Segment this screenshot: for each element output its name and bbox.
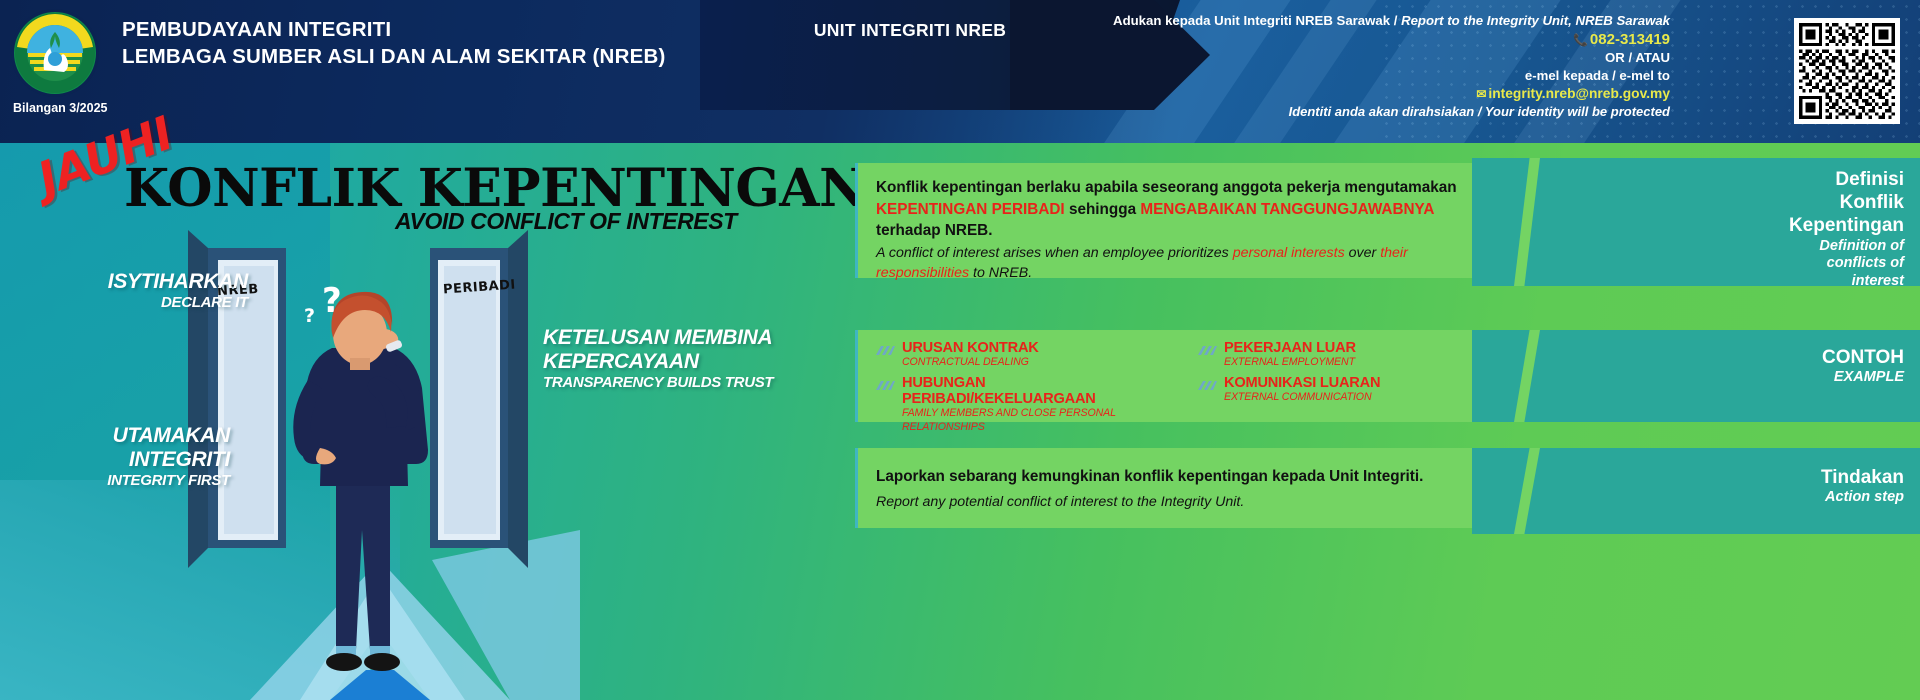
example-ms: URUSAN KONTRAK [902,340,1176,356]
declare-en: DECLARE IT [88,294,248,311]
poster-header: PEMBUDAYAAN INTEGRITI LEMBAGA SUMBER ASL… [0,0,1920,143]
example-en: EXTERNAL COMMUNICATION [1224,391,1498,404]
label-declare-it: ISYTIHARKAN DECLARE IT [88,270,248,311]
trust-ms-line2: KEPERCAYAAN [543,350,873,374]
example-en: EXTERNAL EMPLOYMENT [1224,356,1498,369]
report-ms: Adukan kepada Unit Integriti NREB Sarawa… [1113,13,1390,28]
report-separator: / [1394,13,1398,28]
declare-ms: ISYTIHARKAN [88,270,248,294]
example-en: FAMILY MEMBERS AND CLOSE PERSONAL RELATI… [902,407,1176,433]
tab2-ms: CONTOH [1472,346,1904,369]
definition-ms: Konflik kepentingan berlaku apabila sese… [876,177,1501,242]
issue-number: Bilangan 3/2025 [13,101,108,115]
example-en: CONTRACTUAL DEALING [902,356,1176,369]
quill-svg [876,381,895,392]
header-title-line2: LEMBAGA SUMBER ASLI DAN ALAM SEKITAR (NR… [122,43,665,70]
definition-ms-red-2: MENGABAIKAN TANGGUNGJAWABNYA [1140,201,1434,218]
example-ms: PEKERJAAN LUAR [1224,340,1498,356]
tab3-en: Action step [1472,489,1904,507]
definition-en-red-1: personal interests [1233,245,1345,261]
email-address: integrity.nreb@nreb.gov.my [1488,86,1670,101]
tab1-ms-line3: Kepentingan [1472,214,1904,237]
trust-ms-line1: KETELUSAN MEMBINA [543,326,873,350]
definition-en: A conflict of interest arises when an em… [876,243,1501,283]
phone-number: 082-313419 [1590,31,1670,48]
quill-svg [876,346,895,357]
qr-code-svg [1799,23,1895,119]
crest-svg [14,12,96,94]
report-line: Adukan kepada Unit Integriti NREB Sarawa… [1020,12,1670,30]
tab3-ms: Tindakan [1472,466,1904,489]
svg-text:?: ? [304,305,315,327]
phone-icon: 📞 [1573,33,1588,47]
tab-action[interactable]: Tindakan Action step [1472,448,1920,534]
quill-marks-icon [1198,379,1217,390]
trust-en: TRANSPARENCY BUILDS TRUST [543,374,873,391]
infographic-poster: PEMBUDAYAAN INTEGRITI LEMBAGA SUMBER ASL… [0,0,1920,700]
definition-en-1: A conflict of interest arises when an em… [876,245,1229,261]
email-line[interactable]: ✉integrity.nreb@nreb.gov.my [1020,85,1670,103]
qr-code[interactable] [1794,18,1900,124]
example-item: HUBUNGAN PERIBADI/KEKELUARGAAN FAMILY ME… [876,375,1176,434]
tab-example[interactable]: CONTOH EXAMPLE [1472,330,1920,422]
organisation-title: PEMBUDAYAAN INTEGRITI LEMBAGA SUMBER ASL… [122,16,665,70]
example-ms: HUBUNGAN PERIBADI/KEKELUARGAAN [902,375,1176,408]
definition-en-2: over [1349,245,1377,261]
email-label: e-mel kepada / e-mel to [1020,67,1670,85]
action-en: Report any potential conflict of interes… [876,492,1501,512]
quill-marks-icon [876,379,895,390]
tab-definition[interactable]: Definisi Konflik Kepentingan Definition … [1472,158,1920,286]
example-ms: KOMUNIKASI LUARAN [1224,375,1498,391]
first-ms: UTAMAKAN INTEGRITI [30,424,230,472]
tab1-en-line1: Definition of [1472,238,1904,256]
examples-column-left: URUSAN KONTRAK CONTRACTUAL DEALING HUBUN… [876,340,1176,439]
contact-block: Adukan kepada Unit Integriti NREB Sarawa… [1020,12,1670,120]
label-integrity-first: UTAMAKAN INTEGRITI INTEGRITY FIRST [30,424,230,489]
quill-marks-icon [876,344,895,355]
example-item: KOMUNIKASI LUARAN EXTERNAL COMMUNICATION [1198,375,1498,405]
tab2-en: EXAMPLE [1472,369,1904,387]
definition-ms-red-1: KEPENTINGAN PERIBADI [876,201,1065,218]
example-item: URUSAN KONTRAK CONTRACTUAL DEALING [876,340,1176,370]
quill-svg [1198,346,1217,357]
first-en: INTEGRITY FIRST [30,472,230,489]
definition-ms-3: terhadap NREB. [876,222,992,239]
tab1-ms-line2: Konflik [1472,191,1904,214]
header-title-line1: PEMBUDAYAAN INTEGRITI [122,16,665,43]
or-label: OR / ATAU [1020,49,1670,67]
label-transparency-builds-trust: KETELUSAN MEMBINA KEPERCAYAAN TRANSPAREN… [543,326,873,391]
definition-en-3: to NREB. [973,265,1032,281]
nreb-crest-logo [14,12,96,94]
definition-ms-1: Konflik kepentingan berlaku apabila sese… [876,179,1457,196]
privacy-note: Identiti anda akan dirahsiakan / Your id… [1020,103,1670,120]
tab1-en-line2: conflicts of [1472,255,1904,273]
envelope-icon: ✉ [1476,87,1486,101]
action-ms: Laporkan sebarang kemungkinan konflik ke… [876,466,1501,488]
definition-ms-2: sehingga [1069,201,1136,218]
phone-line[interactable]: 📞082-313419 [1020,30,1670,50]
definition-panel: Konflik kepentingan berlaku apabila sese… [855,163,1515,278]
report-en: Report to the Integrity Unit, NREB Saraw… [1401,13,1670,28]
quill-marks-icon [1198,344,1217,355]
example-item: PEKERJAAN LUAR EXTERNAL EMPLOYMENT [1198,340,1498,370]
examples-panel: URUSAN KONTRAK CONTRACTUAL DEALING HUBUN… [855,330,1515,422]
action-panel: Laporkan sebarang kemungkinan konflik ke… [855,448,1515,528]
examples-column-right: PEKERJAAN LUAR EXTERNAL EMPLOYMENT KOMUN… [1198,340,1498,409]
quill-svg [1198,381,1217,392]
